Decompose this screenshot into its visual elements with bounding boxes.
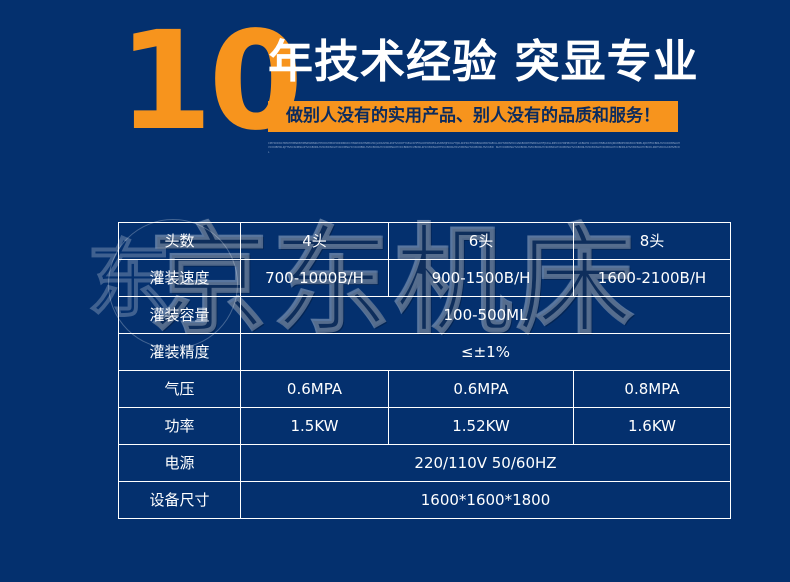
spec-label-cell: 气压 bbox=[119, 371, 241, 408]
table-row: 灌装精度≤±1% bbox=[119, 334, 731, 371]
spec-table: 头数4头6头8头灌装速度700-1000B/H900-1500B/H1600-2… bbox=[118, 222, 731, 519]
table-row: 灌装容量100-500ML bbox=[119, 297, 731, 334]
promo-banner-page: 10 年技术经验 突显专业 做别人没有的实用产品、别人没有的品质和服务！ CMY… bbox=[0, 0, 790, 582]
spec-value-cell: 0.8MPA bbox=[574, 371, 731, 408]
spec-label-cell: 设备尺寸 bbox=[119, 482, 241, 519]
spec-table-container: 头数4头6头8头灌装速度700-1000B/H900-1500B/H1600-2… bbox=[118, 222, 710, 512]
table-row: 电源220/110V 50/60HZ bbox=[119, 445, 731, 482]
spec-value-cell: 0.6MPA bbox=[389, 371, 574, 408]
table-row: 功率1.5KW1.52KW1.6KW bbox=[119, 408, 731, 445]
table-row: 设备尺寸1600*1600*1800 bbox=[119, 482, 731, 519]
banner-highlight-text: 做别人没有的实用产品、别人没有的品质和服务！ bbox=[286, 108, 660, 125]
spec-value-cell: 6头 bbox=[389, 223, 574, 260]
years-number: 10 bbox=[118, 14, 268, 150]
banner-microtext: CMYKDDKCHMOHHMNDBHMNKWBNKUHHDDKHMOPCNDNN… bbox=[268, 142, 680, 155]
spec-value-cell: 1.52KW bbox=[389, 408, 574, 445]
spec-label-cell: 灌装容量 bbox=[119, 297, 241, 334]
spec-value-cell: 1600*1600*1800 bbox=[241, 482, 731, 519]
spec-value-cell: 220/110V 50/60HZ bbox=[241, 445, 731, 482]
spec-value-cell: 1.5KW bbox=[241, 408, 389, 445]
spec-label-cell: 功率 bbox=[119, 408, 241, 445]
spec-label-cell: 电源 bbox=[119, 445, 241, 482]
banner-headline: 年技术经验 突显专业 bbox=[268, 34, 699, 90]
spec-value-cell: 4头 bbox=[241, 223, 389, 260]
spec-value-cell: ≤±1% bbox=[241, 334, 731, 371]
table-row: 气压0.6MPA0.6MPA0.8MPA bbox=[119, 371, 731, 408]
table-row: 灌装速度700-1000B/H900-1500B/H1600-2100B/H bbox=[119, 260, 731, 297]
spec-value-cell: 1.6KW bbox=[574, 408, 731, 445]
spec-value-cell: 8头 bbox=[574, 223, 731, 260]
table-row: 头数4头6头8头 bbox=[119, 223, 731, 260]
banner-section: 10 年技术经验 突显专业 做别人没有的实用产品、别人没有的品质和服务！ CMY… bbox=[0, 0, 790, 180]
spec-value-cell: 100-500ML bbox=[241, 297, 731, 334]
spec-label-cell: 灌装速度 bbox=[119, 260, 241, 297]
spec-label-cell: 灌装精度 bbox=[119, 334, 241, 371]
spec-value-cell: 700-1000B/H bbox=[241, 260, 389, 297]
spec-table-body: 头数4头6头8头灌装速度700-1000B/H900-1500B/H1600-2… bbox=[119, 223, 731, 519]
spec-value-cell: 0.6MPA bbox=[241, 371, 389, 408]
spec-label-cell: 头数 bbox=[119, 223, 241, 260]
spec-value-cell: 900-1500B/H bbox=[389, 260, 574, 297]
banner-highlight-bar: 做别人没有的实用产品、别人没有的品质和服务！ bbox=[268, 101, 678, 132]
spec-value-cell: 1600-2100B/H bbox=[574, 260, 731, 297]
